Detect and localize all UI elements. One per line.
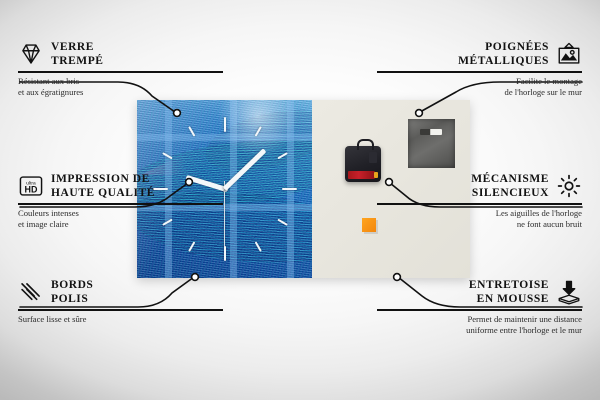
callout-subtitle: Permet de maintenir une distance uniform… — [377, 314, 582, 337]
mechanism-loop — [357, 139, 374, 150]
clock-mechanism — [345, 146, 381, 182]
mechanism-chip — [369, 152, 377, 163]
callout-title: BORDS POLIS — [51, 278, 93, 306]
callout-mecanisme-silencieux[interactable]: MÉCANISME SILENCIEUX Les aiguilles de l'… — [377, 172, 582, 230]
dial-tick — [254, 126, 261, 137]
callout-title: IMPRESSION DE HAUTE QUALITÉ — [51, 172, 155, 200]
callout-rule — [377, 71, 582, 73]
ultra-hd-icon: ultra HD — [18, 173, 44, 199]
callout-entretoise-en-mousse[interactable]: ENTRETOISE EN MOUSSE Permet de maintenir… — [377, 278, 582, 336]
callout-header: POIGNÉES MÉTALLIQUES — [377, 40, 582, 68]
infographic-canvas: VERRE TREMPÉ Résistant aux bris et aux é… — [0, 0, 600, 400]
callout-title: MÉCANISME SILENCIEUX — [471, 172, 549, 200]
dial-tick — [254, 241, 261, 252]
minute-hand — [223, 148, 267, 190]
dial-tick — [282, 188, 297, 190]
second-hand — [224, 181, 226, 247]
dial-tick — [162, 152, 173, 159]
callout-title: ENTRETOISE EN MOUSSE — [469, 278, 549, 306]
callout-verre-trempe[interactable]: VERRE TREMPÉ Résistant aux bris et aux é… — [18, 40, 223, 98]
callout-impression-haute-qualite[interactable]: ultra HD IMPRESSION DE HAUTE QUALITÉ Cou… — [18, 172, 223, 230]
battery — [348, 171, 375, 179]
callout-subtitle: Résistant aux bris et aux égratignures — [18, 76, 223, 99]
callout-subtitle: Les aiguilles de l'horloge ne font aucun… — [377, 208, 582, 231]
polished-edge-icon — [18, 279, 44, 305]
diamond-icon — [18, 41, 44, 67]
dial-tick — [277, 152, 288, 159]
dial-tick — [188, 126, 195, 137]
svg-text:HD: HD — [25, 185, 38, 195]
callout-header: BORDS POLIS — [18, 278, 223, 306]
dial-tick — [224, 117, 226, 132]
callout-rule — [377, 203, 582, 205]
dial-tick — [224, 246, 226, 261]
callout-rule — [377, 309, 582, 311]
gear-icon — [556, 173, 582, 199]
callout-title: POIGNÉES MÉTALLIQUES — [458, 40, 549, 68]
dial-tick — [277, 219, 288, 226]
callout-subtitle: Surface lisse et sûre — [18, 314, 223, 325]
callout-poignees-metalliques[interactable]: POIGNÉES MÉTALLIQUES Facilite le montage… — [377, 40, 582, 98]
hanger-plate — [408, 119, 455, 168]
callout-rule — [18, 203, 223, 205]
callout-header: VERRE TREMPÉ — [18, 40, 223, 68]
callout-subtitle: Couleurs intenses et image claire — [18, 208, 223, 231]
callout-bords-polis[interactable]: BORDS POLIS Surface lisse et sûre — [18, 278, 223, 325]
callout-title: VERRE TREMPÉ — [51, 40, 104, 68]
callout-header: ENTRETOISE EN MOUSSE — [377, 278, 582, 306]
picture-frame-hanger-icon — [556, 41, 582, 67]
callout-rule — [18, 309, 223, 311]
foam-spacer-arrow-icon — [556, 279, 582, 305]
dial-tick — [188, 241, 195, 252]
callout-subtitle: Facilite le montage de l'horloge sur le … — [377, 76, 582, 99]
hanger-slot — [420, 129, 442, 135]
foam-spacer — [362, 218, 376, 232]
callout-rule — [18, 71, 223, 73]
callout-header: ultra HD IMPRESSION DE HAUTE QUALITÉ — [18, 172, 223, 200]
callout-header: MÉCANISME SILENCIEUX — [377, 172, 582, 200]
